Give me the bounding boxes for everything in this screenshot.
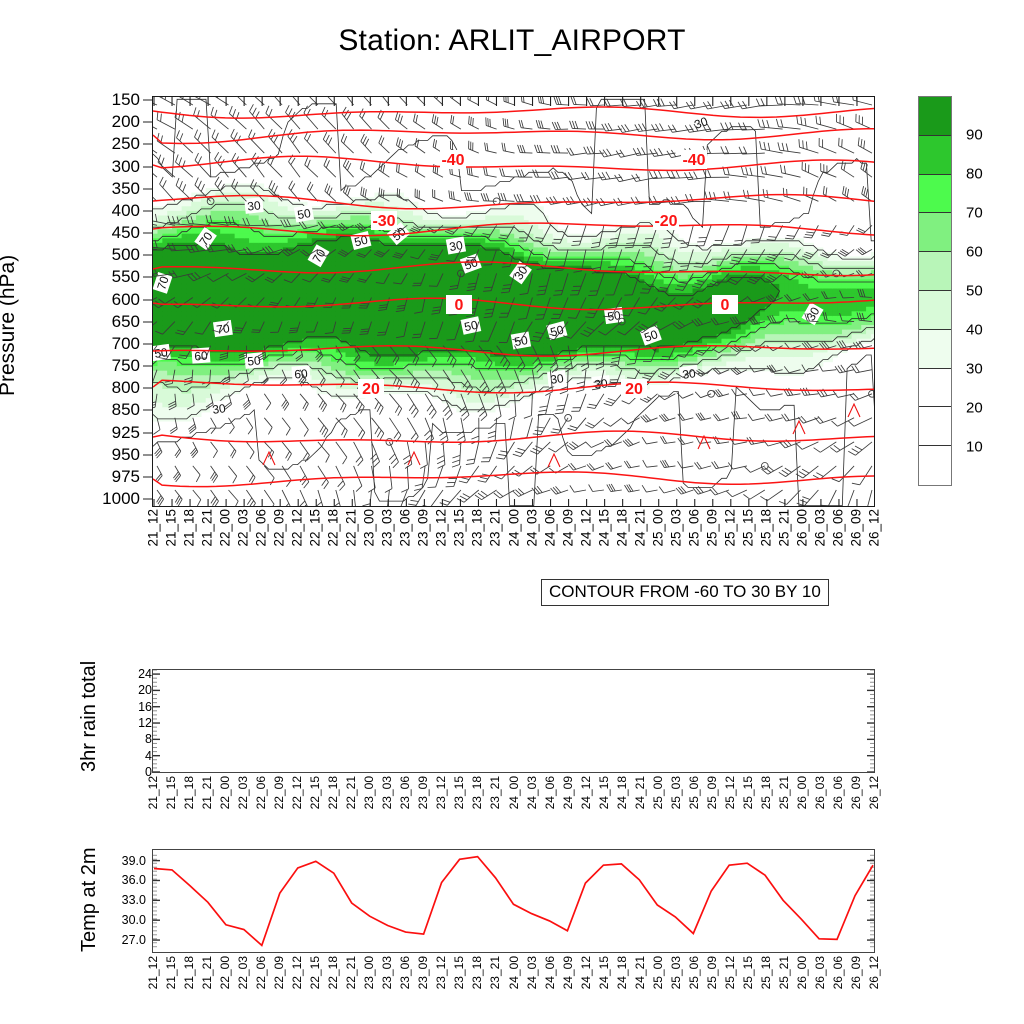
main-y-tick-mark: [143, 432, 152, 433]
x-tick-label: 23_15: [452, 776, 466, 809]
x-tick-label: 24_09: [561, 776, 575, 809]
main-y-tick-mark: [143, 188, 152, 189]
colorbar-tick-label: 40: [966, 322, 983, 339]
main-y-tick-mark: [143, 122, 152, 123]
x-tick-label: 24_21: [633, 776, 647, 809]
rain-plot-graphics: [153, 670, 874, 772]
x-tick-label: 22_09: [272, 509, 287, 547]
x-tick-label: 24_15: [597, 956, 611, 989]
x-tick-label: 26_12: [867, 956, 881, 989]
x-tick-label: 26_06: [830, 509, 845, 547]
x-tick-label: 26_09: [848, 509, 863, 547]
colorbar-band: [919, 97, 951, 136]
x-tick-label: 25_06: [687, 956, 701, 989]
colorbar-tick-label: 20: [966, 400, 983, 417]
main-y-axis-title: Pressure (hPa): [0, 255, 20, 396]
x-tick-label: 24_09: [561, 956, 575, 989]
x-tick-label: 24_00: [507, 776, 521, 809]
x-tick-label: 22_03: [236, 956, 250, 989]
main-y-tick-label: 350: [112, 179, 140, 199]
main-y-tick-label: 450: [112, 223, 140, 243]
main-y-tick-label: 550: [112, 267, 140, 287]
contour-caption: CONTOUR FROM -60 TO 30 BY 10: [541, 579, 829, 606]
colorbar-tick-label: 70: [966, 205, 983, 222]
main-y-tick-mark: [143, 255, 152, 256]
temp-y-tick-label: 27.0: [122, 933, 146, 947]
x-tick-label: 23_09: [416, 776, 430, 809]
x-tick-label: 23_15: [452, 509, 467, 547]
colorbar-band: [919, 407, 951, 446]
main-y-tick-label: 750: [112, 356, 140, 376]
main-x-axis-labels: 21_1221_1521_1821_2122_0022_0322_0622_09…: [152, 509, 875, 581]
main-y-tick-mark: [143, 277, 152, 278]
main-y-tick-label: 800: [112, 378, 140, 398]
main-y-tick-label: 600: [112, 290, 140, 310]
x-tick-label: 26_06: [831, 776, 845, 809]
main-y-tick-mark: [143, 233, 152, 234]
x-tick-label: 25_12: [723, 776, 737, 809]
x-tick-label: 23_06: [398, 776, 412, 809]
main-y-tick-label: 400: [112, 201, 140, 221]
main-y-tick-mark: [143, 366, 152, 367]
x-tick-label: 25_18: [759, 956, 773, 989]
temperature-line: [154, 857, 873, 946]
colorbar-tick-label: 50: [966, 283, 983, 300]
colorbar: [918, 96, 952, 486]
main-y-tick-label: 150: [112, 90, 140, 110]
x-tick-label: 25_03: [669, 956, 683, 989]
x-tick-label: 23_09: [416, 509, 431, 547]
main-y-tick-mark: [143, 476, 152, 477]
x-tick-label: 23_06: [398, 509, 413, 547]
main-y-tick-mark: [143, 343, 152, 344]
x-tick-label: 26_00: [795, 956, 809, 989]
x-tick-label: 26_03: [812, 509, 827, 547]
x-tick-label: 23_21: [488, 776, 502, 809]
main-y-tick-label: 950: [112, 445, 140, 465]
x-tick-label: 22_21: [344, 509, 359, 547]
temp-tick-marks: [153, 855, 874, 946]
x-tick-label: 26_03: [813, 956, 827, 989]
x-tick-label: 21_15: [164, 956, 178, 989]
x-tick-label: 25_18: [758, 509, 773, 547]
rain-y-tick-label: 24: [138, 667, 152, 681]
temperature-y-axis: 39.036.033.030.027.0: [94, 849, 146, 953]
colorbar-band: [919, 252, 951, 291]
x-tick-label: 26_00: [795, 776, 809, 809]
rain-x-axis-labels: 21_1221_1521_1821_2122_0022_0322_0622_09…: [152, 776, 875, 838]
main-y-tick-label: 700: [112, 334, 140, 354]
x-tick-label: 25_18: [759, 776, 773, 809]
main-y-tick-mark: [143, 410, 152, 411]
x-tick-label: 24_18: [615, 956, 629, 989]
x-tick-label: 25_03: [669, 776, 683, 809]
main-y-tick-mark: [143, 210, 152, 211]
x-tick-label: 22_00: [218, 509, 233, 547]
colorbar-band: [919, 330, 951, 369]
x-tick-label: 22_03: [236, 776, 250, 809]
temperature-panel[interactable]: [152, 849, 875, 953]
x-tick-label: 21_21: [200, 956, 214, 989]
colorbar-tick-label: 10: [966, 439, 983, 456]
colorbar-tick-label: 90: [966, 127, 983, 144]
x-tick-label: 22_12: [290, 956, 304, 989]
x-tick-label: 22_09: [272, 776, 286, 809]
x-tick-label: 26_03: [813, 776, 827, 809]
x-tick-label: 21_15: [164, 509, 179, 547]
main-y-tick-label: 1000: [102, 489, 140, 509]
main-y-tick-mark: [143, 499, 152, 500]
main-y-tick-label: 500: [112, 245, 140, 265]
colorbar-tick-label: 60: [966, 244, 983, 261]
main-y-tick-mark: [143, 100, 152, 101]
x-tick-label: 24_00: [507, 956, 521, 989]
x-tick-label: 23_00: [362, 509, 377, 547]
x-tick-label: 22_21: [344, 776, 358, 809]
x-tick-label: 23_15: [452, 956, 466, 989]
rain-y-tick-label: 12: [138, 716, 152, 730]
sounding-cross-section-panel[interactable]: 1030507070707060505050305050505050305030…: [152, 96, 875, 507]
main-y-tick-label: 925: [112, 423, 140, 443]
x-tick-label: 21_12: [146, 956, 160, 989]
x-tick-label: 22_03: [236, 509, 251, 547]
colorbar-tick-label: 80: [966, 166, 983, 183]
x-tick-label: 23_12: [434, 776, 448, 809]
x-tick-label: 24_03: [525, 776, 539, 809]
x-tick-label: 26_12: [867, 776, 881, 809]
x-tick-label: 24_03: [525, 956, 539, 989]
x-tick-label: 24_18: [614, 509, 629, 547]
x-tick-label: 22_18: [326, 956, 340, 989]
x-tick-label: 25_21: [777, 776, 791, 809]
x-tick-label: 23_03: [380, 776, 394, 809]
x-tick-label: 21_21: [200, 509, 215, 547]
x-tick-label: 26_06: [831, 956, 845, 989]
main-y-tick-mark: [143, 454, 152, 455]
main-y-tick-mark: [143, 388, 152, 389]
main-y-tick-label: 850: [112, 400, 140, 420]
x-tick-label: 23_18: [470, 509, 485, 547]
main-plot-graphics: 1030507070707060505050305050505050305030…: [153, 97, 875, 507]
x-tick-label: 24_06: [542, 509, 557, 547]
temperature-x-axis-labels: 21_1221_1521_1821_2122_0022_0322_0622_09…: [152, 956, 875, 1018]
x-tick-label: 24_12: [578, 509, 593, 547]
x-tick-label: 23_21: [488, 956, 502, 989]
x-tick-label: 25_21: [776, 509, 791, 547]
x-tick-label: 22_15: [308, 509, 323, 547]
x-tick-label: 25_06: [687, 776, 701, 809]
main-y-axis: Pressure (hPa) 1502002503003504004505005…: [0, 96, 152, 507]
x-tick-label: 22_12: [290, 509, 305, 547]
main-y-tick-label: 300: [112, 157, 140, 177]
x-tick-label: 24_00: [506, 509, 521, 547]
x-tick-label: 24_06: [543, 956, 557, 989]
rain-y-tick-label: 8: [145, 732, 152, 746]
x-tick-label: 23_12: [434, 956, 448, 989]
x-tick-label: 22_21: [344, 956, 358, 989]
temp-y-tick-label: 30.0: [122, 913, 146, 927]
x-tick-label: 23_09: [416, 956, 430, 989]
rain-y-tick-label: 4: [145, 749, 152, 763]
x-tick-label: 22_06: [254, 509, 269, 547]
x-tick-label: 25_12: [723, 956, 737, 989]
x-tick-label: 22_18: [326, 509, 341, 547]
x-tick-label: 23_03: [380, 956, 394, 989]
x-tick-label: 21_18: [182, 776, 196, 809]
x-tick-label: 24_09: [560, 509, 575, 547]
main-y-tick-label: 975: [112, 467, 140, 487]
x-tick-label: 26_00: [794, 509, 809, 547]
x-tick-label: 25_09: [704, 509, 719, 547]
x-tick-label: 23_06: [398, 956, 412, 989]
temp-y-tick-label: 36.0: [122, 873, 146, 887]
colorbar-band: [919, 213, 951, 252]
x-tick-label: 23_00: [362, 956, 376, 989]
x-tick-label: 23_00: [362, 776, 376, 809]
main-y-tick-mark: [143, 144, 152, 145]
colorbar-band: [919, 136, 951, 175]
x-tick-label: 23_12: [434, 509, 449, 547]
colorbar-band: [919, 291, 951, 330]
x-tick-label: 24_12: [579, 776, 593, 809]
rain-axis-title: 3hr rain total: [78, 661, 101, 772]
x-tick-label: 25_00: [651, 956, 665, 989]
colorbar-band: [919, 175, 951, 214]
main-y-tick-mark: [143, 299, 152, 300]
x-tick-label: 21_12: [146, 776, 160, 809]
x-tick-label: 24_06: [543, 776, 557, 809]
x-tick-label: 22_06: [254, 776, 268, 809]
x-tick-label: 23_18: [470, 956, 484, 989]
x-tick-label: 22_09: [272, 956, 286, 989]
rain-total-panel[interactable]: [152, 669, 875, 773]
rain-tick-marks: [153, 670, 874, 772]
page-title: Station: ARLIT_AIRPORT: [0, 24, 1024, 58]
colorbar-band: [919, 369, 951, 408]
colorbar-tick-label: 30: [966, 361, 983, 378]
x-tick-label: 24_21: [633, 956, 647, 989]
x-tick-label: 25_15: [740, 509, 755, 547]
x-tick-label: 22_15: [308, 776, 322, 809]
x-tick-label: 24_21: [632, 509, 647, 547]
x-tick-label: 22_00: [218, 956, 232, 989]
x-tick-label: 26_09: [849, 956, 863, 989]
x-tick-label: 26_09: [849, 776, 863, 809]
x-tick-label: 25_15: [741, 956, 755, 989]
temperature-plot-graphics: [153, 850, 874, 952]
x-tick-label: 22_00: [218, 776, 232, 809]
x-tick-label: 25_03: [668, 509, 683, 547]
x-tick-label: 21_12: [146, 509, 161, 547]
x-tick-label: 25_09: [705, 956, 719, 989]
temperature-axis-title: Temp at 2m: [78, 848, 101, 952]
x-tick-label: 23_21: [488, 509, 503, 547]
rain-y-tick-label: 20: [138, 683, 152, 697]
x-tick-label: 24_15: [597, 776, 611, 809]
main-y-tick-label: 650: [112, 312, 140, 332]
x-tick-label: 21_15: [164, 776, 178, 809]
x-tick-label: 24_15: [596, 509, 611, 547]
x-tick-label: 23_03: [380, 509, 395, 547]
x-tick-label: 22_12: [290, 776, 304, 809]
main-plot-frame: 1030507070707060505050305050505050305030…: [152, 96, 875, 507]
x-tick-label: 21_18: [182, 956, 196, 989]
x-tick-label: 25_21: [777, 956, 791, 989]
x-tick-label: 25_06: [686, 509, 701, 547]
main-y-tick-label: 250: [112, 134, 140, 154]
x-tick-label: 24_12: [579, 956, 593, 989]
x-tick-label: 22_06: [254, 956, 268, 989]
main-y-tick-label: 200: [112, 112, 140, 132]
temp-y-tick-label: 33.0: [122, 893, 146, 907]
main-y-tick-mark: [143, 321, 152, 322]
x-tick-label: 22_15: [308, 956, 322, 989]
x-tick-label: 25_12: [722, 509, 737, 547]
x-tick-label: 25_00: [650, 509, 665, 547]
main-y-tick-mark: [143, 166, 152, 167]
x-tick-label: 24_18: [615, 776, 629, 809]
temp-y-tick-label: 39.0: [122, 854, 146, 868]
x-tick-label: 25_15: [741, 776, 755, 809]
x-tick-label: 23_18: [470, 776, 484, 809]
x-tick-label: 22_18: [326, 776, 340, 809]
x-tick-label: 25_09: [705, 776, 719, 809]
x-tick-label: 24_03: [524, 509, 539, 547]
rain-y-axis: 24201612840: [100, 669, 152, 773]
x-tick-label: 25_00: [651, 776, 665, 809]
x-tick-label: 21_21: [200, 776, 214, 809]
x-tick-label: 21_18: [182, 509, 197, 547]
x-tick-label: 26_12: [867, 509, 882, 547]
colorbar-band: [919, 446, 951, 485]
rain-y-tick-label: 16: [138, 700, 152, 714]
